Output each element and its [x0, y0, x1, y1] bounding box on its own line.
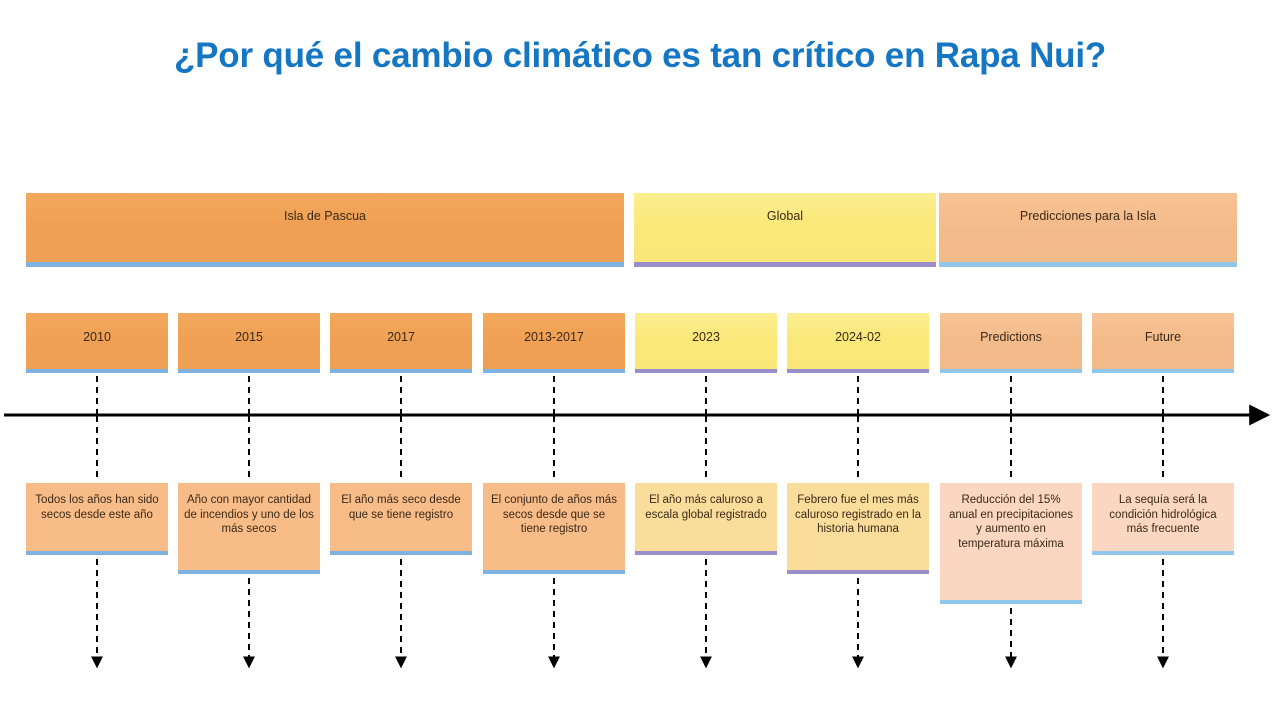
date-label: 2015	[235, 330, 263, 344]
timeline-date-box[interactable]: 2023	[635, 313, 777, 373]
category-label: Isla de Pascua	[284, 209, 366, 223]
timeline-date-box[interactable]: 2013-2017	[483, 313, 625, 373]
connector-mid-group	[97, 416, 1163, 481]
date-label: 2010	[83, 330, 111, 344]
date-label: 2017	[387, 330, 415, 344]
timeline-description-box[interactable]: Reducción del 15% anual en precipitacion…	[940, 483, 1082, 604]
description-text: La sequía será la condición hidrológica …	[1098, 493, 1228, 537]
description-text: El año más seco desde que se tiene regis…	[336, 493, 466, 522]
category-label: Global	[767, 209, 803, 223]
date-label: 2023	[692, 330, 720, 344]
description-text: Reducción del 15% anual en precipitacion…	[946, 493, 1076, 552]
timeline-description-box[interactable]: El año más caluroso a escala global regi…	[635, 483, 777, 555]
date-label: 2024-02	[835, 330, 881, 344]
category-header-global: Global	[634, 193, 936, 267]
category-label: Predicciones para la Isla	[1020, 209, 1156, 223]
timeline-date-box[interactable]: 2017	[330, 313, 472, 373]
timeline-description-box[interactable]: Febrero fue el mes más caluroso registra…	[787, 483, 929, 574]
timeline-date-box[interactable]: Future	[1092, 313, 1234, 373]
timeline-description-box[interactable]: El año más seco desde que se tiene regis…	[330, 483, 472, 555]
description-text: El año más caluroso a escala global regi…	[641, 493, 771, 522]
timeline-description-box[interactable]: La sequía será la condición hidrológica …	[1092, 483, 1234, 555]
timeline-description-box[interactable]: Todos los años han sido secos desde este…	[26, 483, 168, 555]
connector-upper-group	[97, 376, 1163, 414]
description-text: Todos los años han sido secos desde este…	[32, 493, 162, 522]
category-header-isla-de-pascua: Isla de Pascua	[26, 193, 624, 267]
date-label: 2013-2017	[524, 330, 584, 344]
timeline-date-box[interactable]: Predictions	[940, 313, 1082, 373]
timeline-date-box[interactable]: 2010	[26, 313, 168, 373]
timeline-description-box[interactable]: El conjunto de años más secos desde que …	[483, 483, 625, 574]
description-text: Año con mayor cantidad de incendios y un…	[184, 493, 314, 537]
timeline-description-box[interactable]: Año con mayor cantidad de incendios y un…	[178, 483, 320, 574]
date-label: Future	[1145, 330, 1181, 344]
timeline-date-box[interactable]: 2024-02	[787, 313, 929, 373]
timeline-date-box[interactable]: 2015	[178, 313, 320, 373]
description-text: El conjunto de años más secos desde que …	[489, 493, 619, 537]
category-header-predicciones: Predicciones para la Isla	[939, 193, 1237, 267]
slide-canvas: ¿Por qué el cambio climático es tan crít…	[0, 0, 1280, 720]
page-title: ¿Por qué el cambio climático es tan crít…	[0, 36, 1280, 76]
description-text: Febrero fue el mes más caluroso registra…	[793, 493, 923, 537]
date-label: Predictions	[980, 330, 1042, 344]
